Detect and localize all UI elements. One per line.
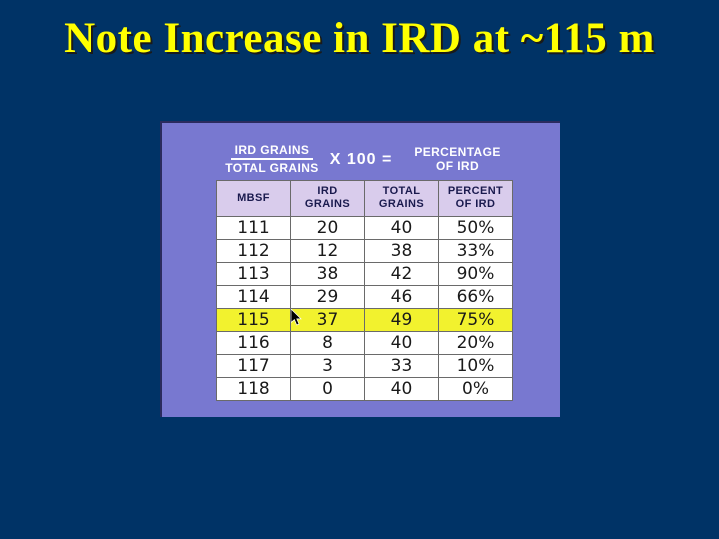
cell-percent-ird: 66% bbox=[439, 286, 513, 309]
cell-ird-grains: 37 bbox=[291, 309, 365, 332]
cell-mbsf: 111 bbox=[217, 217, 291, 240]
cell-mbsf: 118 bbox=[217, 378, 291, 401]
cell-ird-grains: 20 bbox=[291, 217, 365, 240]
column-header-mbsf: MBSF bbox=[217, 181, 291, 217]
table-row[interactable]: 112123833% bbox=[217, 240, 513, 263]
ird-data-table: MBSF IRD GRAINS TOTAL GRAINS PERCENT OF … bbox=[216, 180, 513, 401]
cell-total-grains: 42 bbox=[365, 263, 439, 286]
column-header-total-grains-line2: GRAINS bbox=[379, 198, 424, 210]
formula-result-line2: OF IRD bbox=[436, 159, 479, 173]
column-header-ird-grains-line1: IRD bbox=[317, 185, 337, 197]
column-header-percent-ird-line2: OF IRD bbox=[456, 198, 496, 210]
table-body: 111204050%112123833%113384290%114294666%… bbox=[217, 217, 513, 401]
column-header-percent-ird-line1: PERCENT bbox=[448, 185, 503, 197]
page-title: Note Increase in IRD at ~115 m bbox=[0, 14, 719, 64]
cell-percent-ird: 75% bbox=[439, 309, 513, 332]
cell-total-grains: 40 bbox=[365, 217, 439, 240]
table-header-row: MBSF IRD GRAINS TOTAL GRAINS PERCENT OF … bbox=[217, 181, 513, 217]
cell-mbsf: 115 bbox=[217, 309, 291, 332]
cell-mbsf: 113 bbox=[217, 263, 291, 286]
percentage-formula: IRD GRAINS TOTAL GRAINS X 100 = PERCENTA… bbox=[162, 134, 562, 184]
cell-mbsf: 112 bbox=[217, 240, 291, 263]
cell-mbsf: 114 bbox=[217, 286, 291, 309]
formula-result: PERCENTAGE OF IRD bbox=[414, 145, 500, 173]
column-header-ird-grains-line2: GRAINS bbox=[305, 198, 350, 210]
cell-ird-grains: 29 bbox=[291, 286, 365, 309]
formula-fraction: IRD GRAINS TOTAL GRAINS bbox=[223, 143, 320, 175]
cell-percent-ird: 50% bbox=[439, 217, 513, 240]
cell-total-grains: 38 bbox=[365, 240, 439, 263]
table-row[interactable]: 11733310% bbox=[217, 355, 513, 378]
table-row[interactable]: 113384290% bbox=[217, 263, 513, 286]
table-row[interactable]: 114294666% bbox=[217, 286, 513, 309]
cell-total-grains: 40 bbox=[365, 378, 439, 401]
cell-percent-ird: 33% bbox=[439, 240, 513, 263]
cell-total-grains: 33 bbox=[365, 355, 439, 378]
cell-percent-ird: 20% bbox=[439, 332, 513, 355]
column-header-total-grains-line1: TOTAL bbox=[383, 185, 421, 197]
cell-ird-grains: 12 bbox=[291, 240, 365, 263]
cell-mbsf: 117 bbox=[217, 355, 291, 378]
table-row[interactable]: 111204050% bbox=[217, 217, 513, 240]
cell-ird-grains: 38 bbox=[291, 263, 365, 286]
table-row[interactable]: 115374975% bbox=[217, 309, 513, 332]
cell-ird-grains: 3 bbox=[291, 355, 365, 378]
formula-denominator: TOTAL GRAINS bbox=[223, 160, 320, 175]
table-row[interactable]: 11684020% bbox=[217, 332, 513, 355]
cell-percent-ird: 0% bbox=[439, 378, 513, 401]
formula-result-line1: PERCENTAGE bbox=[414, 145, 500, 159]
content-panel: IRD GRAINS TOTAL GRAINS X 100 = PERCENTA… bbox=[160, 121, 560, 417]
cell-mbsf: 116 bbox=[217, 332, 291, 355]
column-header-mbsf-line1: MBSF bbox=[237, 192, 270, 204]
formula-numerator: IRD GRAINS bbox=[231, 143, 314, 160]
cell-total-grains: 46 bbox=[365, 286, 439, 309]
column-header-total-grains: TOTAL GRAINS bbox=[365, 181, 439, 217]
cell-total-grains: 40 bbox=[365, 332, 439, 355]
formula-multiplier: X 100 = bbox=[330, 150, 393, 168]
cell-percent-ird: 10% bbox=[439, 355, 513, 378]
column-header-ird-grains: IRD GRAINS bbox=[291, 181, 365, 217]
cell-ird-grains: 8 bbox=[291, 332, 365, 355]
cell-ird-grains: 0 bbox=[291, 378, 365, 401]
table-row[interactable]: 1180400% bbox=[217, 378, 513, 401]
cell-percent-ird: 90% bbox=[439, 263, 513, 286]
column-header-percent-ird: PERCENT OF IRD bbox=[439, 181, 513, 217]
cell-total-grains: 49 bbox=[365, 309, 439, 332]
